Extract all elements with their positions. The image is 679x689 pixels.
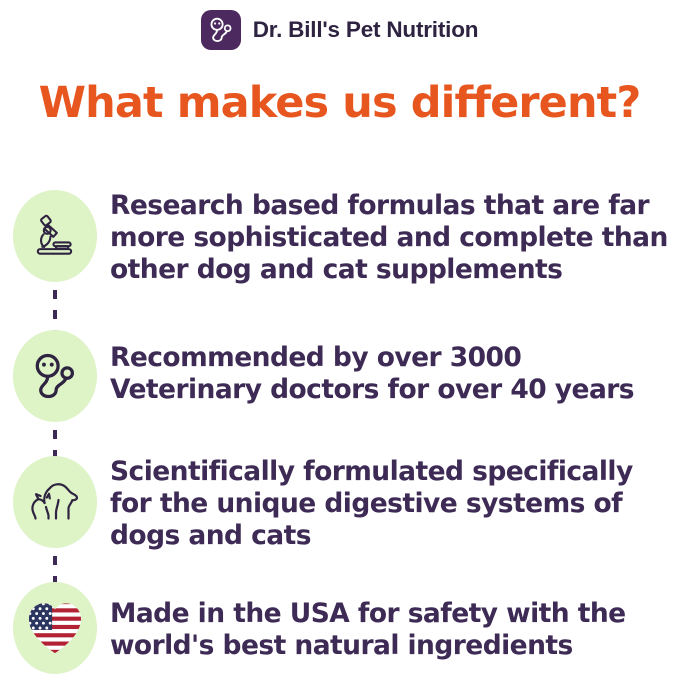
microscope-icon: [30, 211, 80, 261]
usa-flag-heart-icon: [26, 600, 84, 656]
list-item-label: Research based formulas that are far mor…: [110, 178, 679, 286]
list-item-label: Scientifically formulated specifically f…: [110, 446, 679, 552]
stethoscope-dog-face-icon: [207, 16, 235, 44]
icon-column: [0, 178, 110, 282]
feature-icon-bubble: [13, 456, 97, 548]
page-title: What makes us different?: [0, 78, 679, 128]
list-item-label: Recommended by over 3000 Veterinary doct…: [110, 318, 679, 406]
icon-column: [0, 446, 110, 548]
list-item: Research based formulas that are far mor…: [0, 178, 679, 318]
dog-and-cat-icon: [27, 476, 83, 528]
brand-logo-tile: [201, 10, 241, 50]
list-item-label: Made in the USA for safety with the worl…: [110, 576, 679, 662]
feature-icon-bubble: [13, 330, 97, 422]
stethoscope-icon: [29, 350, 81, 402]
list-item: Recommended by over 3000 Veterinary doct…: [0, 318, 679, 446]
list-item: Scientifically formulated specifically f…: [0, 446, 679, 576]
feature-icon-bubble: [13, 582, 97, 674]
feature-list: Research based formulas that are far mor…: [0, 178, 679, 686]
feature-icon-bubble: [13, 190, 97, 282]
icon-column: [0, 576, 110, 674]
list-item: Made in the USA for safety with the worl…: [0, 576, 679, 686]
brand-name: Dr. Bill's Pet Nutrition: [253, 17, 479, 43]
icon-column: [0, 318, 110, 422]
brand-header: Dr. Bill's Pet Nutrition: [0, 10, 679, 50]
